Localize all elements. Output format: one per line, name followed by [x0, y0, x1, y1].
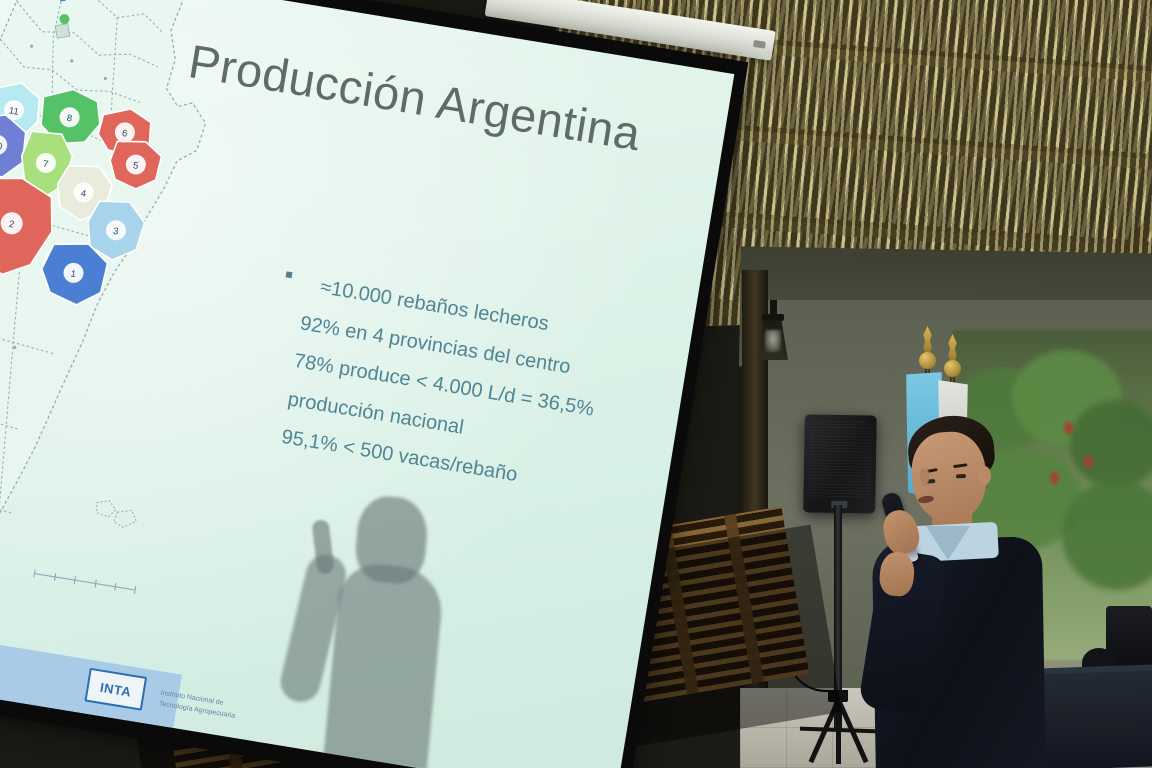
map-scale-bar: [34, 570, 136, 594]
projection-screen-assembly: 11 8 10 7 6 5: [0, 0, 768, 768]
screenshot-stage: 11 8 10 7 6 5: [0, 0, 1152, 768]
slide-title: Producción Argentina: [184, 28, 649, 168]
map-region-11-label: 11: [8, 105, 20, 117]
lamp-cap: [762, 314, 784, 321]
flag-finial-ball-left: [919, 352, 936, 369]
presenter-shadow-body: [323, 561, 445, 768]
presenter-shadow-arm: [277, 551, 350, 706]
projection-screen: 11 8 10 7 6 5: [0, 0, 734, 768]
slide-bullet-list: ≈10.000 rebaños lecheros 92% en 4 provin…: [257, 262, 683, 517]
presentation-slide: 11 8 10 7 6 5: [0, 0, 734, 768]
flag-finial-ball-right: [944, 360, 961, 377]
bullet-marker-icon: [286, 271, 293, 278]
falkland-islands: [93, 499, 138, 529]
screen-frame: 11 8 10 7 6 5: [0, 0, 748, 768]
presenter-shadow-microphone: [311, 519, 334, 575]
presenter-ear: [978, 466, 991, 485]
roof-diagonal-beam: [1120, 0, 1152, 257]
presenter: [846, 400, 1066, 768]
presenter-shadow-head: [353, 494, 431, 586]
